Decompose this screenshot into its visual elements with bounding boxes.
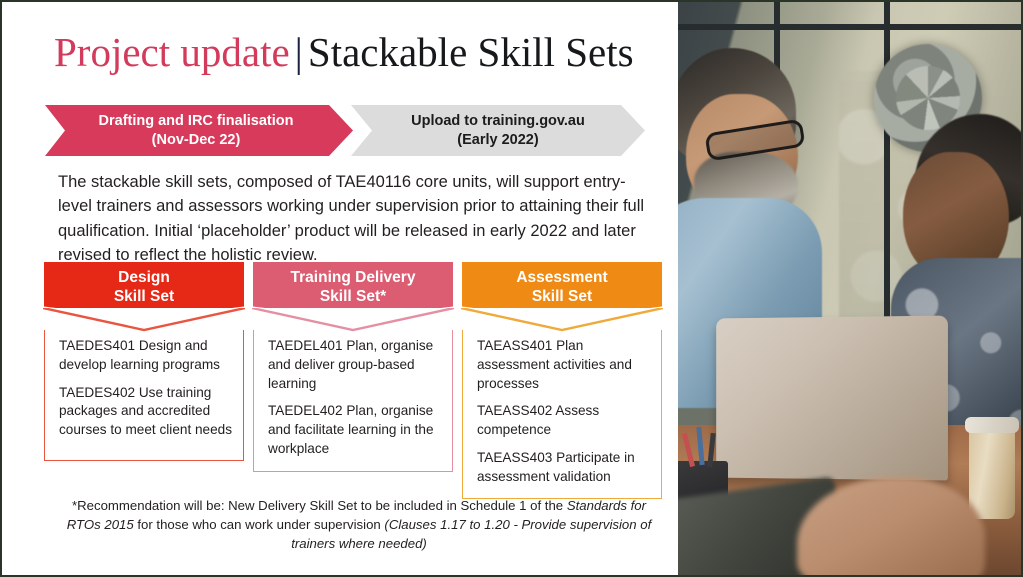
intro-paragraph: The stackable skill sets, composed of TA…	[58, 170, 658, 268]
skill-set-card-training-delivery-title-line1: Training Delivery	[291, 269, 416, 288]
photo-partition-frame	[884, 2, 890, 357]
skill-set-card-design-title-line1: Design	[118, 269, 170, 288]
skill-set-card-design[interactable]: Design Skill Set TAEDES401 Design and de…	[44, 262, 244, 499]
phase-chevron-upload-line2: (Early 2022)	[411, 131, 585, 149]
skill-set-card-assessment-title-line2: Skill Set	[532, 288, 592, 307]
footnote: *Recommendation will be: New Delivery Sk…	[58, 496, 660, 553]
photo-partition-frame	[678, 24, 1021, 30]
page-title-accent: Project update	[54, 29, 290, 75]
footnote-part1: *Recommendation will be: New Delivery Sk…	[72, 498, 567, 513]
phase-chevron-upload-line1: Upload to training.gov.au	[411, 112, 585, 130]
phase-chevron-drafting[interactable]: Drafting and IRC finalisation (Nov-Dec 2…	[45, 105, 353, 156]
card-notch-icon	[252, 308, 454, 332]
phase-chevron-drafting-line2: (Nov-Dec 22)	[99, 131, 294, 149]
card-notch-icon	[43, 308, 245, 332]
coffee-cup-lid	[965, 417, 1019, 433]
skill-set-unit: TAEDES401 Design and develop learning pr…	[59, 337, 234, 375]
skill-set-card-assessment-body: TAEASS401 Plan assessment activities and…	[462, 309, 662, 499]
skill-set-unit: TAEDEL401 Plan, organise and deliver gro…	[268, 337, 443, 393]
coffee-cup-icon	[969, 423, 1015, 519]
skill-set-card-assessment-title-line1: Assessment	[516, 269, 607, 288]
footnote-part2: for those who can work under supervision	[134, 517, 385, 532]
skill-set-card-training-delivery[interactable]: Training Delivery Skill Set* TAEDEL401 P…	[253, 262, 453, 499]
content-pane: Project update|Stackable Skill Sets Draf…	[2, 2, 680, 575]
page-title-separator: |	[290, 29, 308, 75]
skill-set-unit: TAEASS402 Assess competence	[477, 402, 652, 440]
skill-set-card-training-delivery-body: TAEDEL401 Plan, organise and deliver gro…	[253, 309, 453, 472]
skill-set-card-design-body: TAEDES401 Design and develop learning pr…	[44, 309, 244, 461]
page-title: Project update|Stackable Skill Sets	[54, 30, 634, 76]
page-title-main: Stackable Skill Sets	[308, 29, 634, 75]
phase-chevron-upload[interactable]: Upload to training.gov.au (Early 2022)	[351, 105, 645, 156]
skill-set-unit: TAEDES402 Use training packages and accr…	[59, 384, 234, 440]
skill-set-unit: TAEASS401 Plan assessment activities and…	[477, 337, 652, 393]
phase-chevron-drafting-line1: Drafting and IRC finalisation	[99, 112, 294, 130]
skill-set-cards: Design Skill Set TAEDES401 Design and de…	[44, 262, 662, 499]
skill-set-card-design-title-line2: Skill Set	[114, 288, 174, 307]
skill-set-card-training-delivery-title-line2: Skill Set*	[320, 288, 386, 307]
office-photo	[678, 2, 1021, 575]
card-notch-icon	[461, 308, 663, 332]
skill-set-unit: TAEASS403 Participate in assessment vali…	[477, 449, 652, 487]
skill-set-unit: TAEDEL402 Plan, organise and facilitate …	[268, 402, 443, 458]
phase-timeline: Drafting and IRC finalisation (Nov-Dec 2…	[45, 105, 645, 156]
laptop-icon	[716, 316, 948, 481]
skill-set-card-assessment[interactable]: Assessment Skill Set TAEASS401 Plan asse…	[462, 262, 662, 499]
slide-canvas: Project update|Stackable Skill Sets Draf…	[0, 0, 1023, 577]
